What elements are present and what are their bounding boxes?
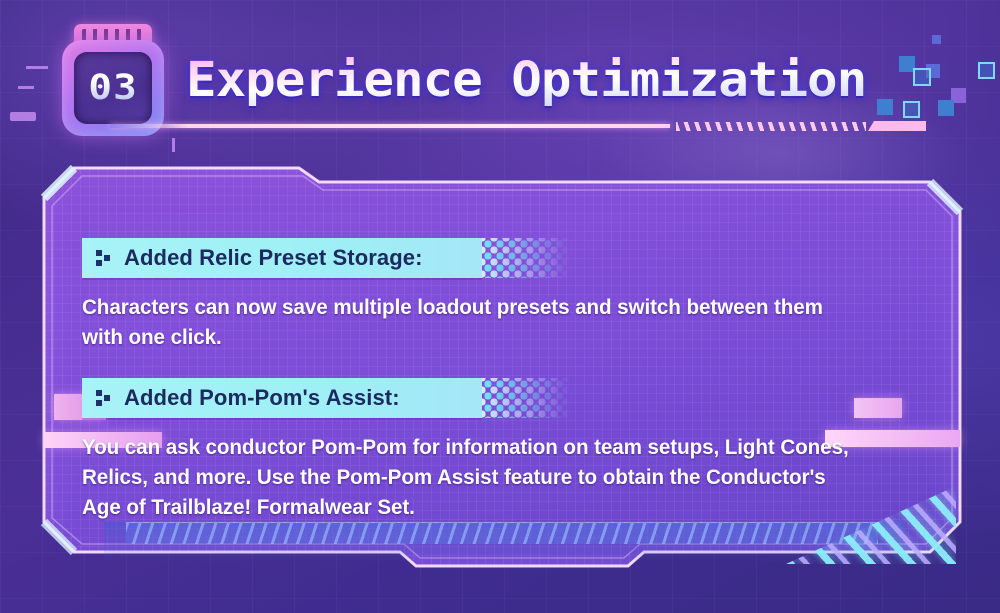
- section-heading-bar: Added Relic Preset Storage:: [82, 238, 482, 278]
- header: 03 Experience Optimization: [0, 0, 1000, 150]
- dither-gradient-icon: [482, 238, 578, 278]
- content-panel: Added Relic Preset Storage: Characters c…: [44, 168, 960, 566]
- section-heading-text: Added Pom-Pom's Assist:: [124, 385, 400, 411]
- decorative-square: [913, 68, 931, 86]
- section-body-text: Characters can now save multiple loadout…: [82, 292, 850, 352]
- decorative-square: [903, 101, 920, 118]
- badge-number: 03: [88, 68, 137, 108]
- hatch-rule-icon: [676, 122, 866, 131]
- infographic-slide: 03 Experience Optimization: [0, 0, 1000, 613]
- chip-tick-icon: [26, 66, 48, 69]
- page-title: Experience Optimization: [186, 52, 866, 108]
- rule-cap-icon: [868, 121, 926, 131]
- section-pom-pom-assist: Added Pom-Pom's Assist: You can ask cond…: [44, 378, 882, 522]
- dither-gradient-icon: [482, 378, 578, 418]
- bullet-marker-icon: [96, 390, 112, 406]
- chip-screen: 03: [74, 52, 152, 124]
- panel-content: Added Relic Preset Storage: Characters c…: [44, 168, 960, 566]
- section-heading-bar: Added Pom-Pom's Assist:: [82, 378, 482, 418]
- chip-tick-icon: [18, 86, 34, 89]
- chip-tick-icon: [172, 138, 175, 152]
- decorative-square: [932, 35, 941, 44]
- decorative-square: [938, 100, 954, 116]
- title-underline: [110, 124, 670, 128]
- decorative-square: [978, 62, 995, 79]
- chip-tick-icon: [10, 112, 36, 121]
- section-body-text: You can ask conductor Pom-Pom for inform…: [82, 432, 850, 522]
- decorative-square: [877, 99, 893, 115]
- section-heading-text: Added Relic Preset Storage:: [124, 245, 423, 271]
- bullet-marker-icon: [96, 250, 112, 266]
- chip-body: 03: [62, 40, 164, 136]
- section-relic-preset-storage: Added Relic Preset Storage: Characters c…: [44, 238, 882, 352]
